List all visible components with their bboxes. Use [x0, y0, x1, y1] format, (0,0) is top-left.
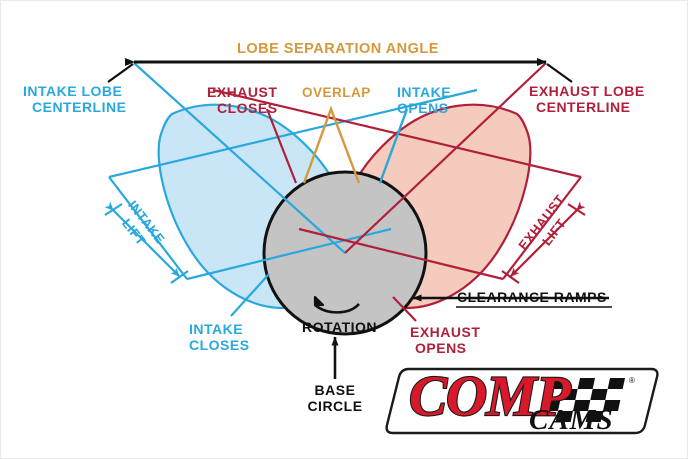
base-circle-label-line1: BASE — [315, 382, 356, 398]
exhaust-lift-label: EXHAUST LIFT — [515, 192, 580, 263]
overlap-label: OVERLAP — [302, 85, 371, 100]
exhaust-lobe-centerline-label-line1: EXHAUST LOBE — [529, 83, 645, 99]
intake-closes-label-line2: CLOSES — [189, 337, 250, 353]
intake-lobe-centerline-label-line1: INTAKE LOBE — [23, 83, 122, 99]
intake-opens-label-line2: OPENS — [397, 100, 449, 116]
exhaust-closes-label-line2: CLOSES — [217, 100, 278, 116]
exhaust-lobe-centerline-label-line2: CENTERLINE — [536, 99, 630, 115]
camshaft-lobe-diagram: LOBE SEPARATION ANGLE INTAKE LOBE CENTER… — [1, 1, 688, 459]
intake-opens-label-line1: INTAKE — [397, 84, 451, 100]
intake-centerline-leader — [108, 64, 133, 82]
intake-lobe-centerline-label-line2: CENTERLINE — [32, 99, 126, 115]
exhaust-opens-label-line1: EXHAUST — [410, 324, 480, 340]
lobe-separation-angle-label: LOBE SEPARATION ANGLE — [237, 41, 439, 57]
exhaust-opens-label-line2: OPENS — [415, 340, 467, 356]
clearance-ramps-label: CLEARANCE RAMPS — [457, 289, 607, 305]
diagram-canvas: LOBE SEPARATION ANGLE INTAKE LOBE CENTER… — [0, 0, 688, 459]
exhaust-closes-label-line1: EXHAUST — [207, 84, 277, 100]
logo-registered-mark: ® — [629, 376, 635, 385]
rotation-label: ROTATION — [302, 319, 377, 335]
intake-closes-label-line1: INTAKE — [189, 321, 243, 337]
base-circle-label-line2: CIRCLE — [307, 398, 362, 414]
comp-cams-logo: COMP CAMS ® — [387, 365, 658, 436]
logo-cams-text: CAMS — [529, 404, 614, 436]
intake-lift-label: INTAKE LIFT — [113, 198, 168, 257]
exhaust-centerline-leader — [547, 64, 572, 82]
